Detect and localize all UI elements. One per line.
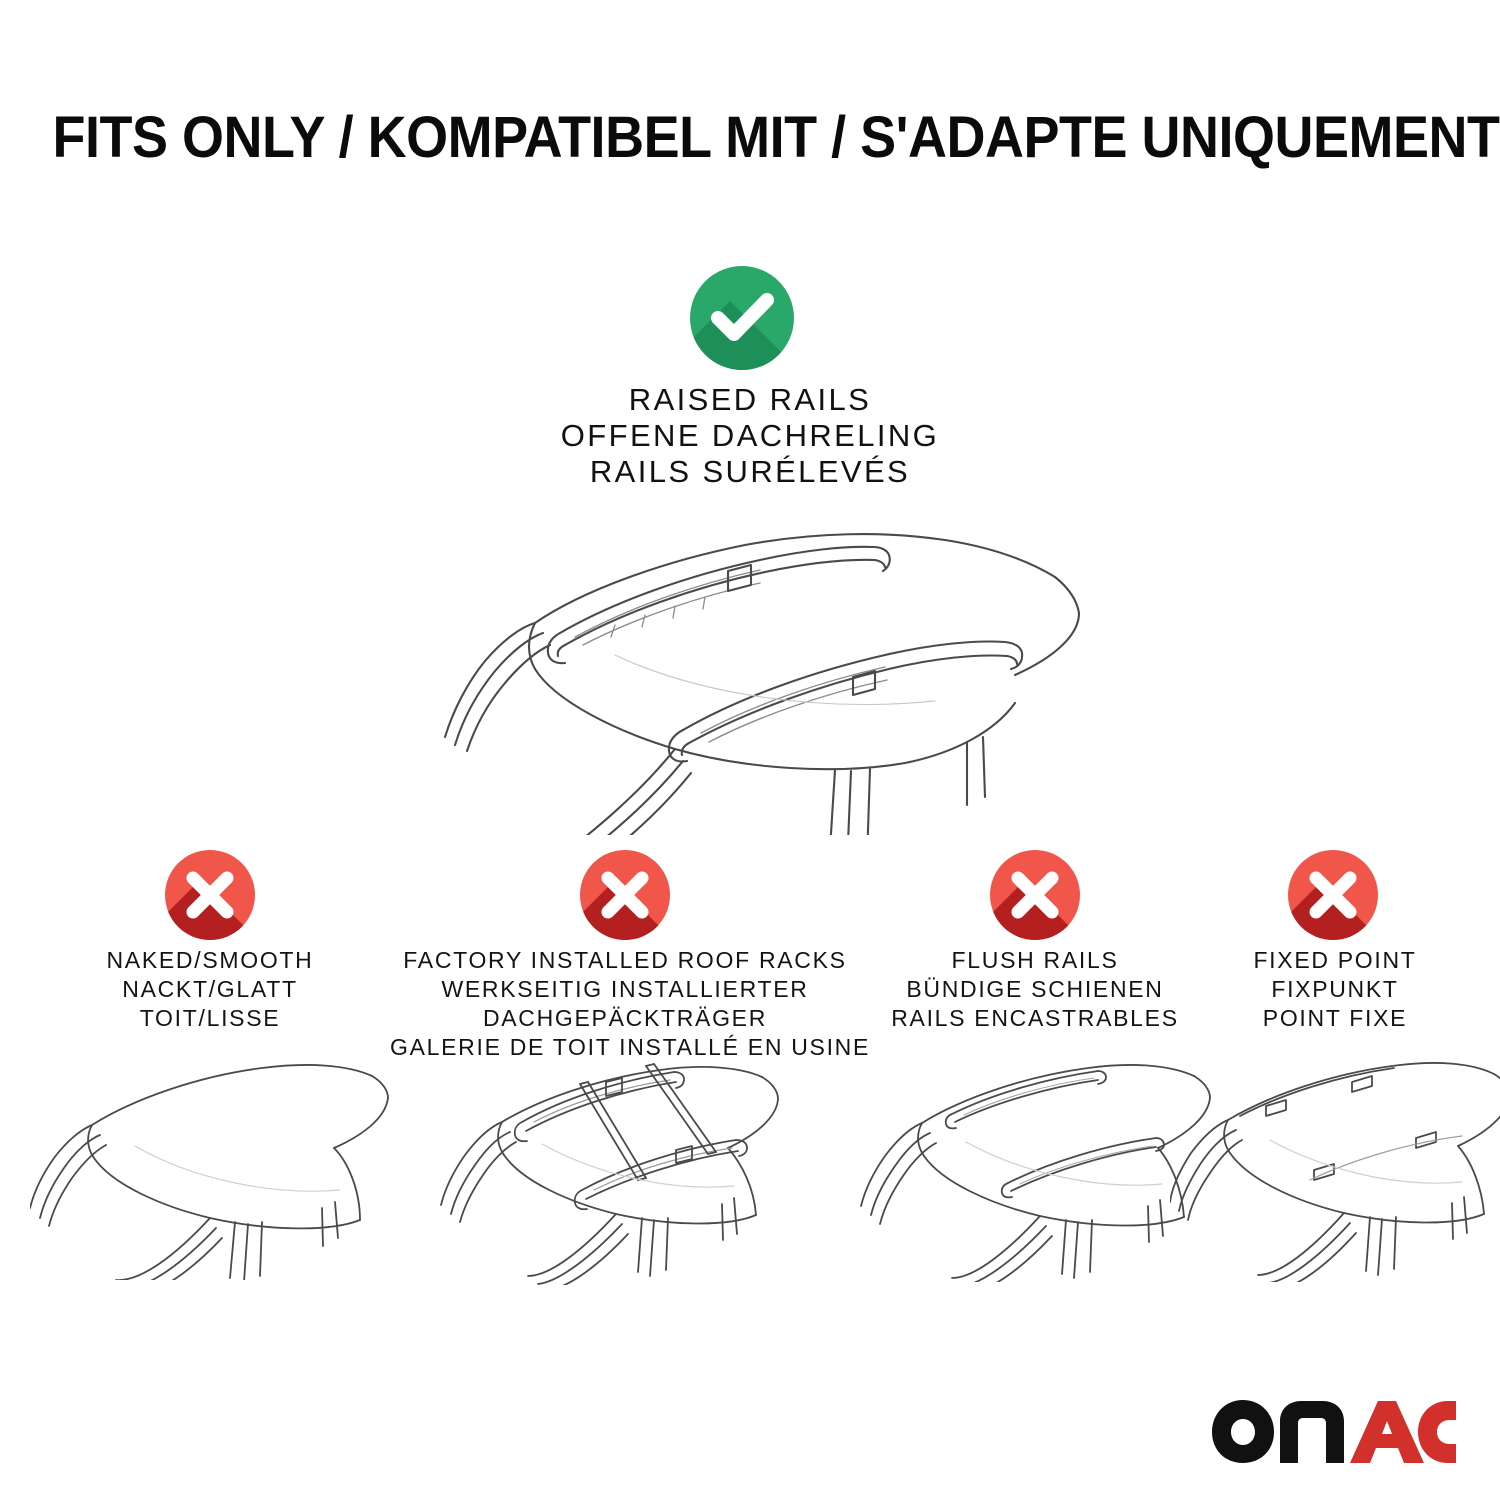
check-circle-icon — [690, 266, 794, 370]
car-roof-with-raised-rails — [415, 505, 1085, 835]
x-circle-icon — [1288, 850, 1378, 940]
x-badge-circle — [1288, 850, 1378, 940]
fixed-point-label-fr: POINT FIXE — [1180, 1004, 1490, 1033]
car-roof-flush-rails — [860, 1050, 1220, 1287]
raised-rails-label-fr: RAILS SURÉLEVÉS — [0, 454, 1500, 490]
omac-logo-m — [1280, 1401, 1344, 1463]
check-glyph — [690, 266, 794, 370]
x-glyph — [1288, 850, 1378, 940]
omac-logo-mark — [1210, 1398, 1458, 1464]
flush-rails-label-en: FLUSH RAILS — [860, 946, 1210, 975]
factory-racks-label-de-2: DACHGEPÄCKTRÄGER — [390, 1004, 860, 1033]
flush-rails-label-de: BÜNDIGE SCHIENEN — [860, 975, 1210, 1004]
naked-smooth-label-fr: TOIT/LISSE — [20, 1004, 400, 1033]
page-title: FITS ONLY / KOMPATIBEL MIT / S'ADAPTE UN… — [53, 104, 1448, 171]
omac-logo-a — [1350, 1401, 1424, 1463]
x-badge-circle — [165, 850, 255, 940]
car-roof-naked-smooth — [30, 1050, 390, 1285]
fixed-point-label-en: FIXED POINT — [1180, 946, 1490, 975]
factory-racks-label-en: FACTORY INSTALLED ROOF RACKS — [390, 946, 860, 975]
x-badge-circle — [990, 850, 1080, 940]
fixed-point-roof-drawing — [1170, 1050, 1500, 1282]
car-roof-factory-roof-racks — [430, 1050, 820, 1290]
omac-logo-o — [1212, 1400, 1274, 1463]
x-circle-icon — [990, 850, 1080, 940]
raised-rails-label-en: RAISED RAILS — [0, 382, 1500, 418]
flush-rails-labels: FLUSH RAILS BÜNDIGE SCHIENEN RAILS ENCAS… — [860, 946, 1210, 1033]
factory-racks-label-de-1: WERKSEITIG INSTALLIERTER — [390, 975, 860, 1004]
x-circle-icon — [165, 850, 255, 940]
factory-racks-labels: FACTORY INSTALLED ROOF RACKS WERKSEITIG … — [390, 946, 860, 1062]
fitment-infographic: FITS ONLY / KOMPATIBEL MIT / S'ADAPTE UN… — [0, 0, 1500, 1500]
raised-rails-roof-drawing — [415, 505, 1085, 835]
omac-logo — [1210, 1402, 1458, 1464]
x-glyph — [165, 850, 255, 940]
flush-rails-label-fr: RAILS ENCASTRABLES — [860, 1004, 1210, 1033]
naked-smooth-label-en: NAKED/SMOOTH — [20, 946, 400, 975]
check-badge-circle — [690, 266, 794, 370]
raised-rails-labels: RAISED RAILS OFFENE DACHRELING RAILS SUR… — [0, 382, 1500, 490]
incompatible-options-row: NAKED/SMOOTH NACKT/GLATT TOIT/LISSE — [0, 850, 1500, 1410]
fixed-point-labels: FIXED POINT FIXPUNKT POINT FIXE — [1180, 946, 1490, 1033]
naked-smooth-labels: NAKED/SMOOTH NACKT/GLATT TOIT/LISSE — [20, 946, 400, 1033]
omac-logo-c — [1418, 1401, 1456, 1463]
x-glyph — [580, 850, 670, 940]
flush-rails-roof-drawing — [860, 1050, 1220, 1282]
car-roof-fixed-point — [1170, 1050, 1500, 1287]
naked-smooth-label-de: NACKT/GLATT — [20, 975, 400, 1004]
x-badge-circle — [580, 850, 670, 940]
factory-racks-roof-drawing — [430, 1050, 820, 1285]
fixed-point-label-de: FIXPUNKT — [1180, 975, 1490, 1004]
x-circle-icon — [580, 850, 670, 940]
x-glyph — [990, 850, 1080, 940]
raised-rails-label-de: OFFENE DACHRELING — [0, 418, 1500, 454]
naked-roof-drawing — [30, 1050, 390, 1280]
